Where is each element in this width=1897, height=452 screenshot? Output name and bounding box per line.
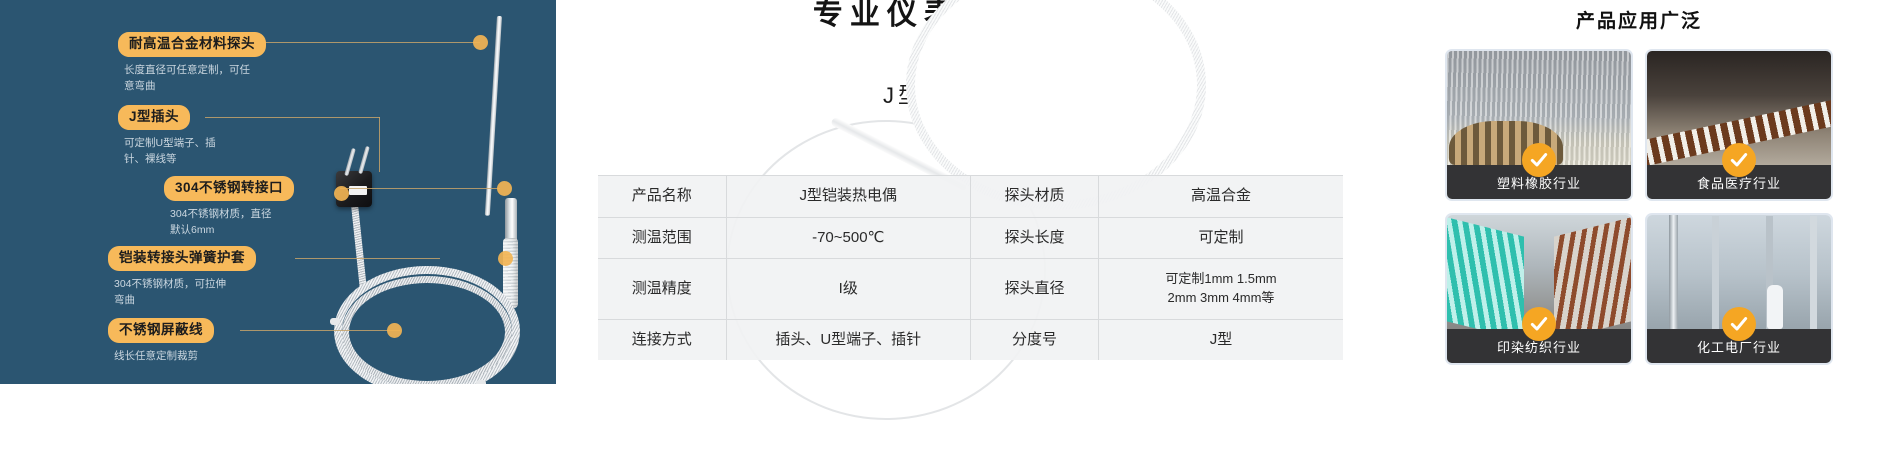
- leader-line-plug: [205, 117, 380, 118]
- callout-probe[interactable]: 耐高温合金材料探头 长度直径可任意定制，可任 意弯曲: [118, 32, 266, 94]
- application-card-plastic-rubber[interactable]: 塑料橡胶行业: [1445, 49, 1633, 201]
- spec-key: 探头材质: [971, 176, 1099, 218]
- spec-value: J型: [1099, 319, 1344, 360]
- specification-table-wrapper: 产品名称 J型铠装热电偶 探头材质 高温合金 测温范围 -70~500℃ 探头长…: [598, 175, 1343, 360]
- callout-adapter-desc: 304不锈钢材质，直径 默认6mm: [164, 206, 294, 239]
- spec-value: 可定制1mm 1.5mm 2mm 3mm 4mm等: [1099, 259, 1344, 320]
- spec-key: 分度号: [971, 319, 1099, 360]
- spec-key: 探头直径: [971, 259, 1099, 320]
- spec-value: -70~500℃: [726, 217, 971, 259]
- spec-value: 插头、U型端子、插针: [726, 319, 971, 360]
- spec-value: J型铠装热电偶: [726, 176, 971, 218]
- spec-key: 测温范围: [598, 217, 726, 259]
- cable-clip-left-icon: [330, 318, 340, 325]
- cable-clip-bottom-icon: [476, 380, 486, 384]
- spec-key: 测温精度: [598, 259, 726, 320]
- specification-panel: 专业仪表 匠心制造 J型铠装热电偶 产品名称 J型铠装热电偶 探头材质 高温合金…: [556, 0, 1381, 452]
- j-plug-pin-right-icon: [358, 146, 370, 174]
- table-row: 测温范围 -70~500℃ 探头长度 可定制: [598, 217, 1343, 259]
- callout-shield-wire[interactable]: 不锈钢屏蔽线 线长任意定制裁剪: [108, 318, 214, 364]
- spec-key: 产品名称: [598, 176, 726, 218]
- product-diagram-panel: 耐高温合金材料探头 长度直径可任意定制，可任 意弯曲 J型插头 可定制U型端子、…: [0, 0, 556, 384]
- product-detail-page: 耐高温合金材料探头 长度直径可任意定制，可任 意弯曲 J型插头 可定制U型端子、…: [0, 0, 1897, 452]
- check-icon: [1722, 143, 1756, 177]
- leader-line-shield: [240, 330, 400, 331]
- cable-tail-illustration: [350, 195, 367, 290]
- callout-spring-sheath-desc: 304不锈钢材质，可拉伸 弯曲: [108, 276, 256, 309]
- spec-key: 连接方式: [598, 319, 726, 360]
- leader-line-adapter: [340, 188, 500, 189]
- callout-probe-title: 耐高温合金材料探头: [118, 32, 266, 57]
- callout-shield-wire-title: 不锈钢屏蔽线: [108, 318, 214, 343]
- check-icon: [1522, 143, 1556, 177]
- callout-adapter[interactable]: 304不锈钢转接口 304不锈钢材质，直径 默认6mm: [164, 176, 294, 238]
- application-card-printing-textile[interactable]: 印染纺织行业: [1445, 213, 1633, 365]
- callout-shield-wire-desc: 线长任意定制裁剪: [108, 348, 214, 364]
- spec-value: I级: [726, 259, 971, 320]
- leader-line-probe: [260, 42, 480, 43]
- callout-j-plug-title: J型插头: [118, 105, 190, 130]
- check-icon: [1522, 307, 1556, 341]
- callout-probe-desc: 长度直径可任意定制，可任 意弯曲: [118, 62, 266, 95]
- leader-line-sheath: [295, 258, 440, 259]
- hotspot-dot-adapter[interactable]: [497, 181, 512, 196]
- spec-value: 高温合金: [1099, 176, 1344, 218]
- hotspot-dot-sheath[interactable]: [498, 251, 513, 266]
- callout-j-plug-desc: 可定制U型端子、插 针、裸线等: [118, 135, 216, 168]
- hotspot-dot-probe[interactable]: [473, 35, 488, 50]
- spec-key: 探头长度: [971, 217, 1099, 259]
- table-row: 连接方式 插头、U型端子、插针 分度号 J型: [598, 319, 1343, 360]
- table-row: 产品名称 J型铠装热电偶 探头材质 高温合金: [598, 176, 1343, 218]
- applications-grid: 塑料橡胶行业 食品医疗行业 印染纺织行业: [1445, 49, 1833, 365]
- application-card-food-medical[interactable]: 食品医疗行业: [1645, 49, 1833, 201]
- hotspot-dot-plug[interactable]: [334, 186, 349, 201]
- table-row: 测温精度 I级 探头直径 可定制1mm 1.5mm 2mm 3mm 4mm等: [598, 259, 1343, 320]
- check-icon: [1722, 307, 1756, 341]
- hotspot-dot-shield[interactable]: [387, 323, 402, 338]
- applications-title: 产品应用广泛: [1381, 8, 1897, 36]
- callout-spring-sheath[interactable]: 铠装转接头弹簧护套 304不锈钢材质，可拉伸 弯曲: [108, 246, 256, 308]
- callout-spring-sheath-title: 铠装转接头弹簧护套: [108, 246, 256, 271]
- callout-adapter-title: 304不锈钢转接口: [164, 176, 294, 201]
- spec-value: 可定制: [1099, 217, 1344, 259]
- application-card-chemical-power[interactable]: 化工电厂行业: [1645, 213, 1833, 365]
- applications-panel: 产品应用广泛 塑料橡胶行业 食品医疗行业: [1381, 0, 1897, 452]
- leader-line-plug-vertical: [379, 117, 380, 172]
- specification-table: 产品名称 J型铠装热电偶 探头材质 高温合金 测温范围 -70~500℃ 探头长…: [598, 175, 1343, 360]
- callout-j-plug[interactable]: J型插头 可定制U型端子、插 针、裸线等: [118, 105, 216, 167]
